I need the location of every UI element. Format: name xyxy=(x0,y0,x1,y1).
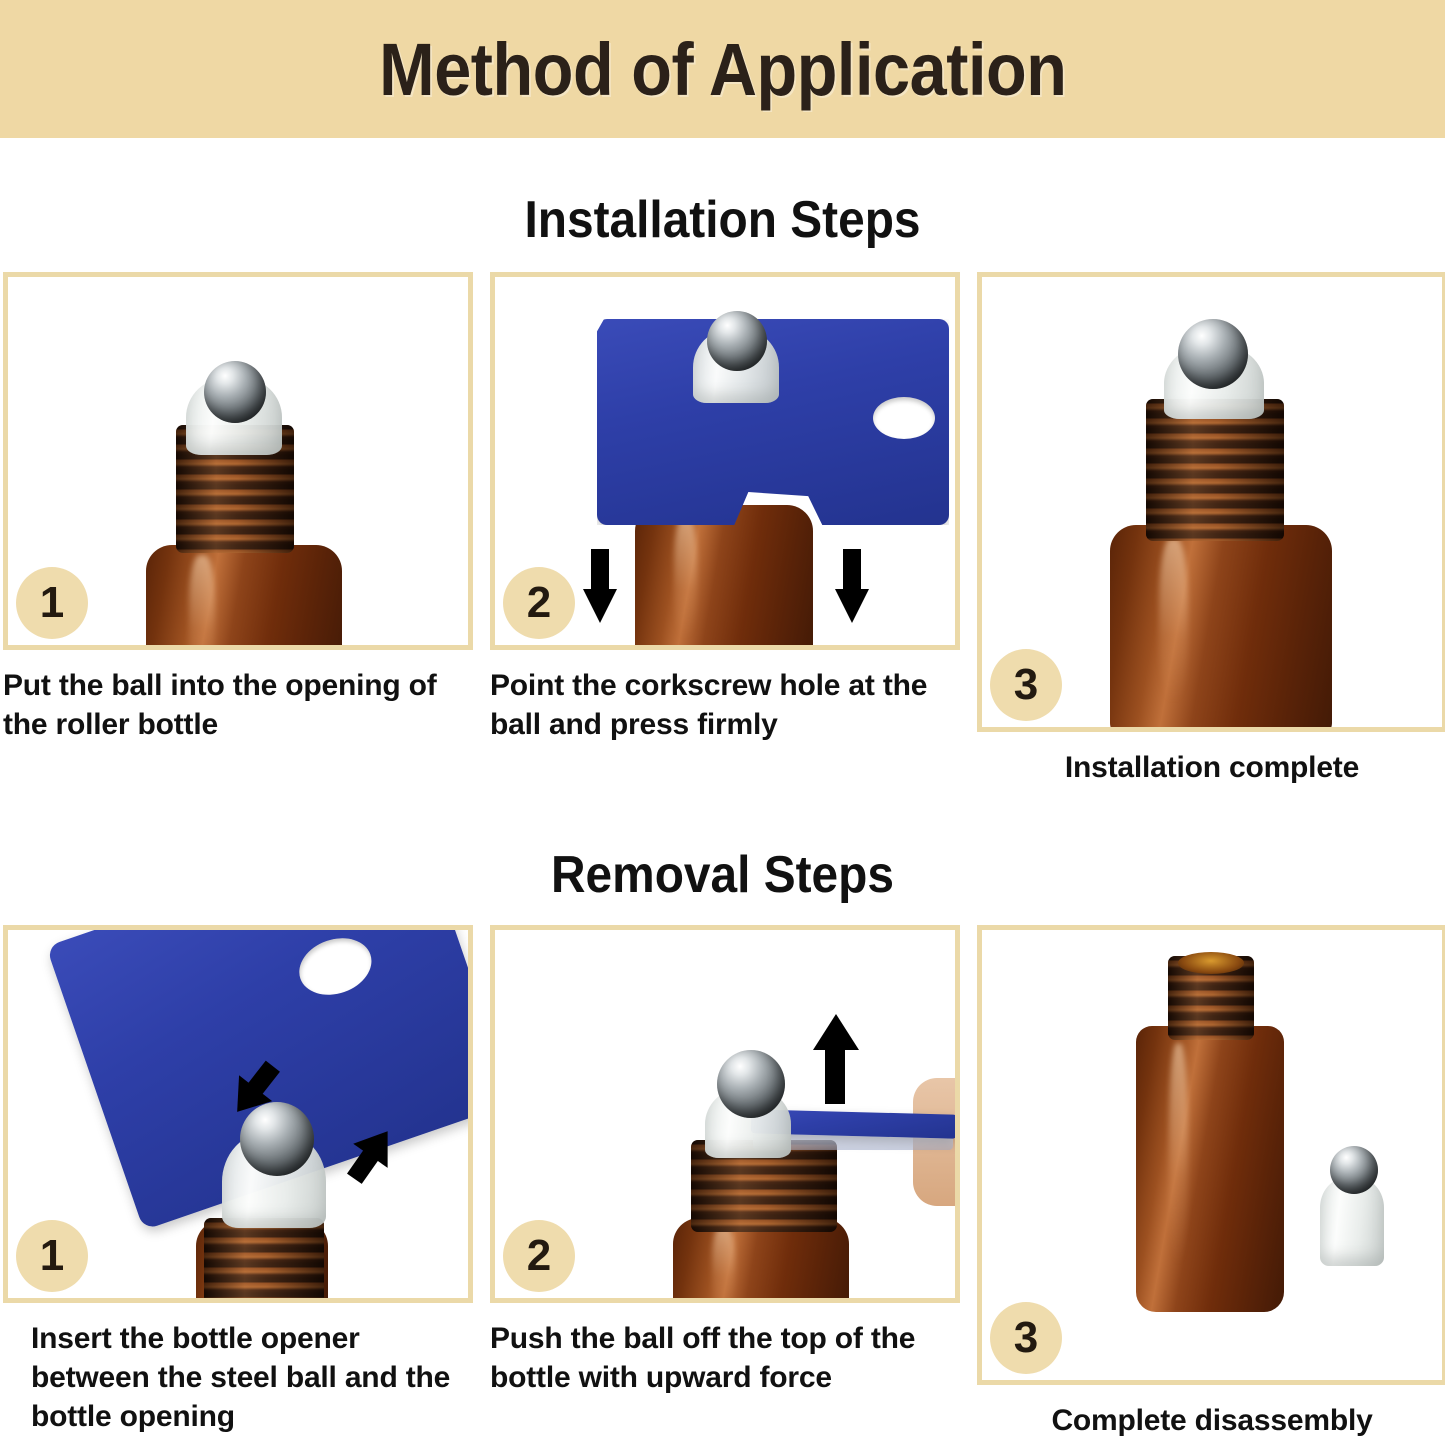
step-photo-removal-1: 1 xyxy=(3,925,473,1303)
step-card-removal-3: 3 Complete disassembly xyxy=(977,925,1445,1440)
step-caption-removal-3: Complete disassembly xyxy=(977,1401,1445,1440)
step-photo-install-3: 3 xyxy=(977,272,1445,732)
step-caption-install-2: Point the corkscrew hole at the ball and… xyxy=(490,666,960,744)
amber-bottle xyxy=(1110,525,1332,732)
step-number-badge: 3 xyxy=(990,649,1062,721)
bottle-neck-threads xyxy=(1146,399,1284,541)
arrow-up-icon xyxy=(813,1014,859,1106)
amber-bottle xyxy=(1136,1026,1284,1312)
step-number-badge: 1 xyxy=(16,1220,88,1292)
steel-ball xyxy=(1178,319,1248,389)
step-caption-install-3: Installation complete xyxy=(977,748,1445,787)
arrow-down-right-icon xyxy=(835,549,869,623)
amber-bottle xyxy=(146,545,342,650)
steel-ball-detached xyxy=(1330,1146,1378,1194)
step-photo-removal-3: 3 xyxy=(977,925,1445,1385)
step-number-badge: 1 xyxy=(16,567,88,639)
opener-hole xyxy=(292,929,380,1004)
steel-ball xyxy=(204,361,266,423)
step-card-removal-2: 2 Push the ball off the top of the bottl… xyxy=(490,925,960,1440)
section-heading-installation: Installation Steps xyxy=(58,190,1387,250)
section-heading-removal: Removal Steps xyxy=(58,845,1387,905)
step-caption-removal-2: Push the ball off the top of the bottle … xyxy=(490,1319,960,1397)
title-banner: Method of Application xyxy=(0,0,1445,138)
bottle-opening xyxy=(1178,952,1244,974)
steel-ball xyxy=(707,311,767,371)
step-card-install-1: 1 Put the ball into the opening of the r… xyxy=(3,272,473,787)
bottle-neck-threads xyxy=(204,1218,324,1303)
step-number-badge: 3 xyxy=(990,1302,1062,1374)
step-number-badge: 2 xyxy=(503,1220,575,1292)
amber-bottle xyxy=(635,505,813,650)
step-photo-install-1: 1 xyxy=(3,272,473,650)
step-caption-removal-1: Insert the bottle opener between the ste… xyxy=(3,1319,473,1436)
step-number-badge: 2 xyxy=(503,567,575,639)
step-photo-install-2: 2 xyxy=(490,272,960,650)
installation-steps-row: 1 Put the ball into the opening of the r… xyxy=(0,272,1445,787)
step-card-install-2: 2 Point the corkscrew hole at the ball a… xyxy=(490,272,960,787)
opener-hole xyxy=(873,397,935,439)
steel-ball xyxy=(717,1050,785,1118)
step-card-removal-1: 1 Insert the bottle opener between the s… xyxy=(3,925,473,1440)
step-photo-removal-2: 2 xyxy=(490,925,960,1303)
page-title: Method of Application xyxy=(379,27,1066,112)
removal-steps-row: 1 Insert the bottle opener between the s… xyxy=(0,925,1445,1440)
step-caption-install-1: Put the ball into the opening of the rol… xyxy=(3,666,473,744)
step-card-install-3: 3 Installation complete xyxy=(977,272,1445,787)
arrow-down-left-icon xyxy=(583,549,617,623)
